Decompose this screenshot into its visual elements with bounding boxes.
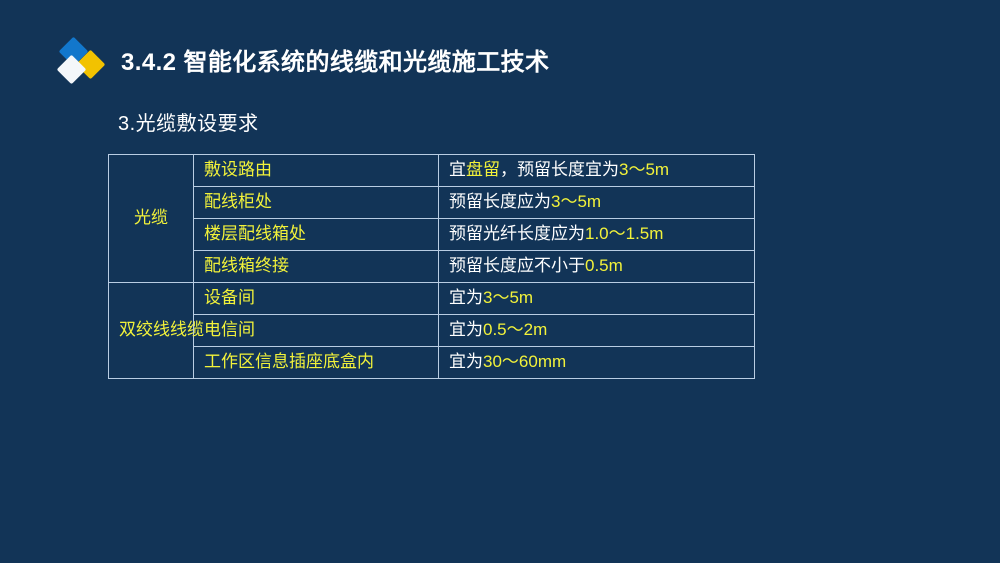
table-cell-value: 预留长度应为3～5m xyxy=(439,187,755,219)
table-cell-item: 设备间 xyxy=(194,283,439,315)
table-cell-item: 敷设路由 xyxy=(194,155,439,187)
table-cell-value: 宜为3～5m xyxy=(439,283,755,315)
value-segment: 0.5m xyxy=(585,256,623,275)
table-cell-value: 宜为0.5～2m xyxy=(439,315,755,347)
value-segment: 3～5m xyxy=(619,160,669,179)
table-cell-item: 配线柜处 xyxy=(194,187,439,219)
value-segment: 宜为 xyxy=(449,288,483,307)
slide-canvas: 3.4.2 智能化系统的线缆和光缆施工技术 3.光缆敷设要求 光缆敷设路由宜盘留… xyxy=(0,0,1000,563)
table-row: 配线箱终接预留长度应不小于0.5m xyxy=(109,251,755,283)
value-segment: 30～60mm xyxy=(483,352,566,371)
value-segment: 预留长度应为 xyxy=(449,192,551,211)
table-cell-item: 楼层配线箱处 xyxy=(194,219,439,251)
table-cell-item: 电信间 xyxy=(194,315,439,347)
value-segment: 3～5m xyxy=(483,288,533,307)
table-row: 工作区信息插座底盒内宜为30～60mm xyxy=(109,347,755,379)
table-cell-value: 预留光纤长度应为1.0～1.5m xyxy=(439,219,755,251)
cable-reserve-spec-table: 光缆敷设路由宜盘留，预留长度宜为3～5m配线柜处预留长度应为3～5m楼层配线箱处… xyxy=(108,154,755,379)
table-cell-value: 宜为30～60mm xyxy=(439,347,755,379)
table-row: 双绞线线缆设备间宜为3～5m xyxy=(109,283,755,315)
table-row: 电信间宜为0.5～2m xyxy=(109,315,755,347)
value-segment: 宜 xyxy=(449,160,466,179)
table-row: 配线柜处预留长度应为3～5m xyxy=(109,187,755,219)
value-segment: 宜为 xyxy=(449,320,483,339)
diamond-logo-icon xyxy=(55,37,111,89)
value-segment: 预留光纤长度应为 xyxy=(449,224,585,243)
value-segment: 盘留 xyxy=(466,160,500,179)
table-cell-value: 宜盘留，预留长度宜为3～5m xyxy=(439,155,755,187)
value-segment: 宜为 xyxy=(449,352,483,371)
table-cell-item: 配线箱终接 xyxy=(194,251,439,283)
table-cell-item: 工作区信息插座底盒内 xyxy=(194,347,439,379)
spec-table-body: 光缆敷设路由宜盘留，预留长度宜为3～5m配线柜处预留长度应为3～5m楼层配线箱处… xyxy=(109,155,755,379)
table-cell-group-label: 光缆 xyxy=(109,155,194,283)
table-cell-group-label: 双绞线线缆 xyxy=(109,283,194,379)
value-segment: 0.5～2m xyxy=(483,320,547,339)
table-row: 光缆敷设路由宜盘留，预留长度宜为3～5m xyxy=(109,155,755,187)
value-segment: 预留长度应不小于 xyxy=(449,256,585,275)
value-segment: ，预留长度宜为 xyxy=(500,160,619,179)
slide-header: 3.4.2 智能化系统的线缆和光缆施工技术 xyxy=(55,37,549,89)
page-title: 3.4.2 智能化系统的线缆和光缆施工技术 xyxy=(121,51,549,75)
section-subtitle: 3.光缆敷设要求 xyxy=(118,107,259,136)
spec-table-wrapper: 光缆敷设路由宜盘留，预留长度宜为3～5m配线柜处预留长度应为3～5m楼层配线箱处… xyxy=(108,154,695,379)
table-cell-value: 预留长度应不小于0.5m xyxy=(439,251,755,283)
table-row: 楼层配线箱处预留光纤长度应为1.0～1.5m xyxy=(109,219,755,251)
value-segment: 1.0～1.5m xyxy=(585,224,663,243)
value-segment: 3～5m xyxy=(551,192,601,211)
